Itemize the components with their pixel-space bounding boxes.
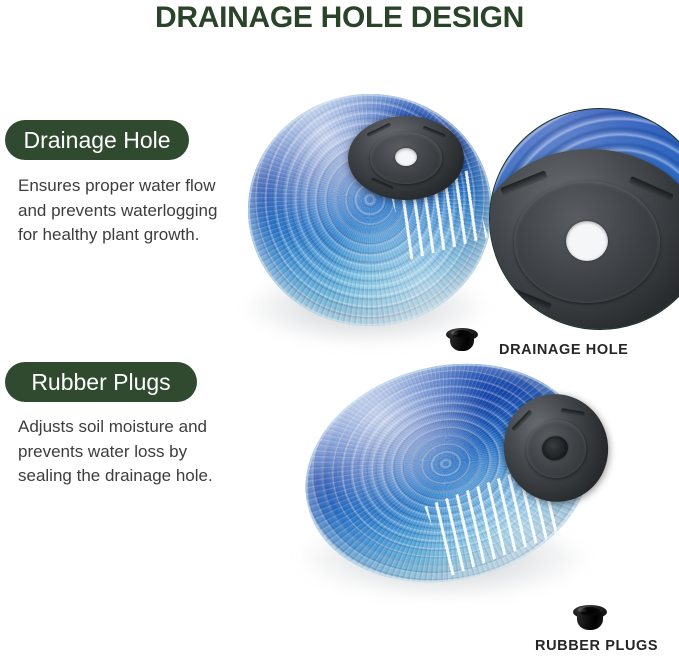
callout-label-rubber-plugs: RUBBER PLUGS <box>535 638 658 654</box>
feature-description-drainage-hole: Ensures proper water flow and prevents w… <box>18 174 223 248</box>
page-title: DRAINAGE HOLE DESIGN <box>0 0 679 38</box>
callout-label-drainage-hole: DRAINAGE HOLE <box>499 342 628 358</box>
feature-badge-drainage-hole: Drainage Hole <box>5 120 189 160</box>
rubber-plug-bottom <box>573 605 607 633</box>
inset-base-plate <box>489 149 679 330</box>
rubber-plug-top <box>446 328 478 354</box>
top-planter-image <box>236 88 506 348</box>
base-spoke-icon <box>511 410 533 432</box>
inset-drainage-hole <box>566 221 608 261</box>
infographic-canvas: DRAINAGE HOLE DESIGN <box>0 0 679 657</box>
top-planter-base-plate <box>348 116 464 200</box>
drainage-hole-zoom-inset <box>489 108 679 330</box>
plug-highlight <box>451 331 460 335</box>
feature-description-rubber-plugs: Adjusts soil moisture and prevents water… <box>18 415 223 489</box>
feature-badge-label: Rubber Plugs <box>31 362 170 402</box>
feature-badge-rubber-plugs: Rubber Plugs <box>5 362 197 402</box>
feature-badge-label: Drainage Hole <box>23 120 170 160</box>
plug-highlight <box>578 608 588 612</box>
top-drainage-hole <box>395 148 417 166</box>
base-spoke-icon <box>561 408 586 417</box>
bottom-planter-image <box>298 358 608 608</box>
